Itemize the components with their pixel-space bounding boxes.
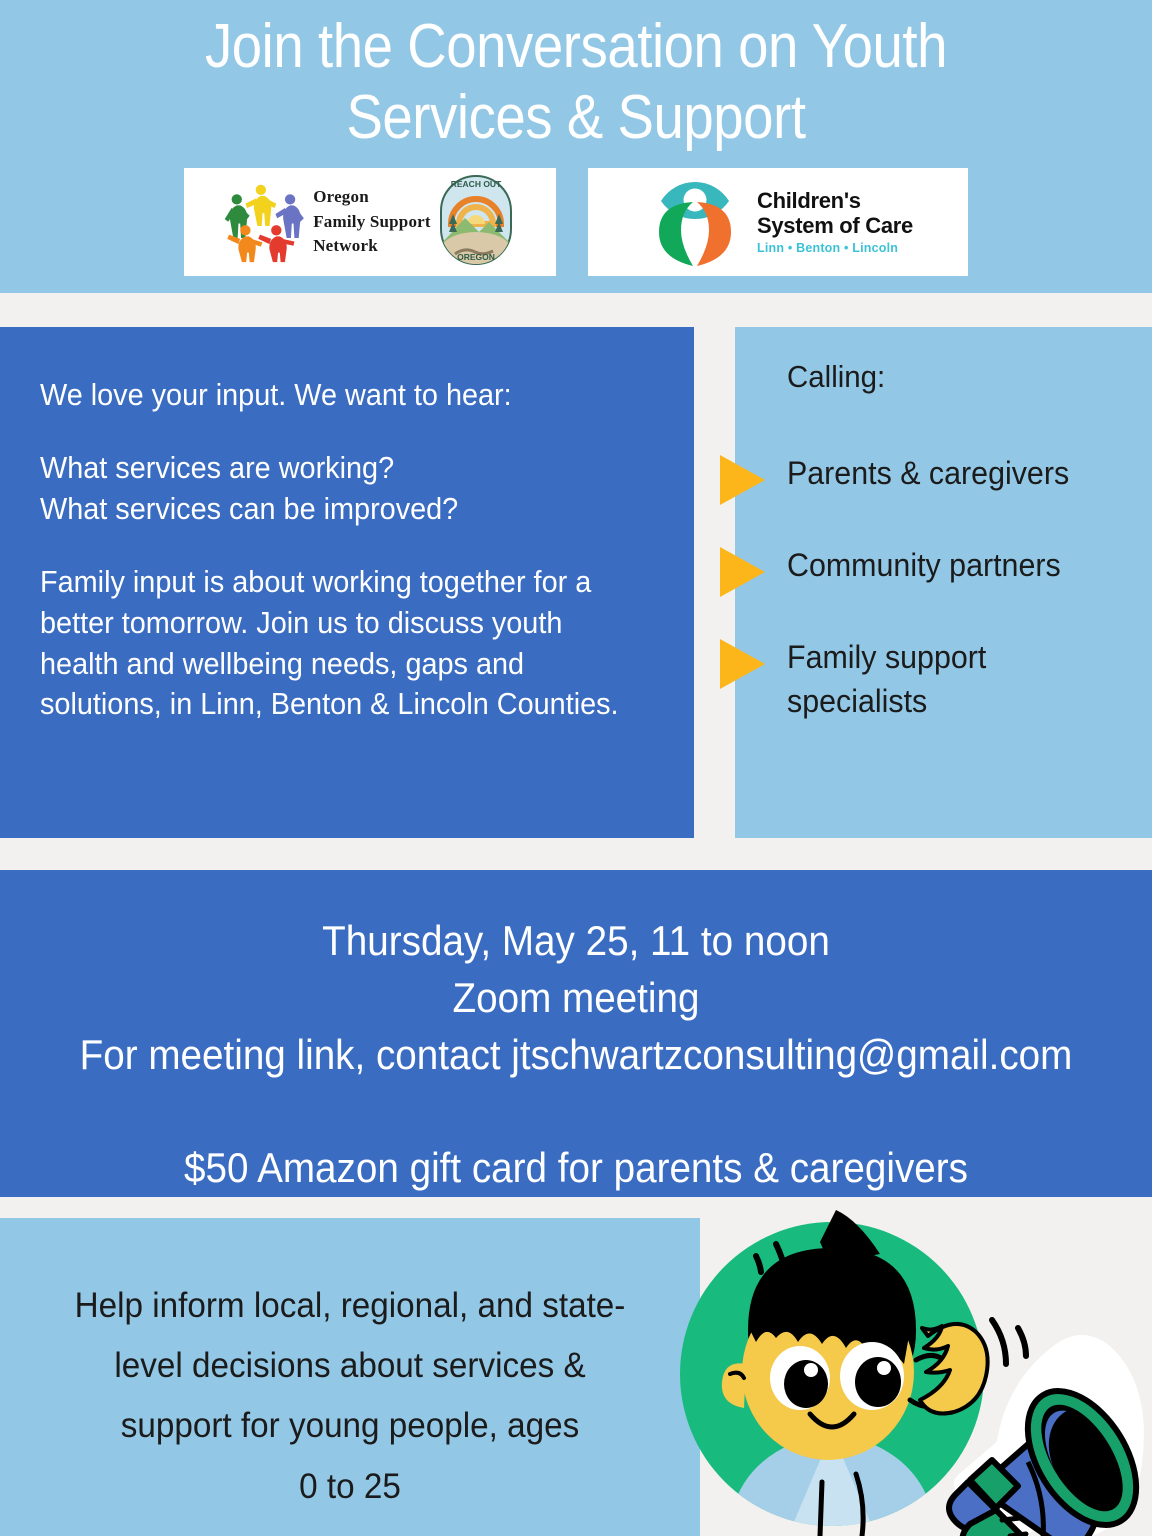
bottom-line-2: level decisions about services & — [52, 1336, 649, 1396]
title-line-2: Services & Support — [104, 83, 1047, 154]
incentive-text: $50 Amazon gift card for parents & careg… — [46, 1139, 1106, 1196]
event-datetime: Thursday, May 25, 11 to noon — [46, 912, 1106, 969]
csoc-wordmark: Children's System of Care Linn • Benton … — [757, 189, 913, 254]
bottom-line-1: Help inform local, regional, and state- — [52, 1276, 649, 1336]
arrow-right-icon — [720, 455, 765, 505]
list-item: Parents & caregivers — [787, 452, 1147, 506]
bottom-line-3: support for young people, ages — [52, 1396, 649, 1456]
ofsn-line-3: Network — [313, 234, 431, 259]
bottom-line-4: 0 to 25 — [52, 1457, 649, 1517]
input-para-1: We love your input. We want to hear: — [40, 375, 628, 416]
calling-heading: Calling: — [787, 359, 1117, 395]
calling-item-label: Family support specialists — [787, 636, 1129, 723]
flyer-poster: Join the Conversation on Youth Services … — [0, 0, 1152, 1536]
input-message-panel: We love your input. We want to hear: Wha… — [0, 327, 694, 838]
calling-item-label: Community partners — [787, 544, 1129, 588]
list-item: Community partners — [787, 544, 1147, 598]
csoc-line-1: Children's — [757, 189, 913, 214]
calling-panel: Calling: Parents & caregivers Community … — [735, 327, 1152, 838]
csoc-figure-icon — [643, 172, 747, 273]
csoc-line-2: System of Care — [757, 214, 913, 239]
arrow-right-icon — [720, 547, 765, 597]
ofsn-line-1: Oregon — [313, 185, 431, 210]
page-title: Join the Conversation on Youth Services … — [104, 12, 1047, 153]
reach-out-oregon-badge-icon: REACH OUT OREGON — [435, 172, 517, 273]
logo-ofsn-wordmark: Oregon Family Support Network — [313, 185, 431, 259]
calling-audience-list: Parents & caregivers Community partners … — [787, 452, 1147, 761]
bottom-info-panel: Help inform local, regional, and state- … — [0, 1218, 700, 1536]
event-details-band: Thursday, May 25, 11 to noon Zoom meetin… — [0, 870, 1152, 1197]
logo-oregon-family-support-network: Oregon Family Support Network — [184, 168, 556, 276]
input-para-2: What services are working? What services… — [40, 448, 628, 530]
arrow-right-icon — [720, 639, 765, 689]
input-question-1: What services are working? — [40, 450, 394, 485]
ofsn-line-2: Family Support — [313, 210, 431, 235]
event-platform: Zoom meeting — [46, 969, 1106, 1026]
list-item: Family support specialists — [787, 636, 1147, 723]
csoc-subtitle: Linn • Benton • Lincoln — [757, 241, 913, 255]
people-circle-icon — [223, 177, 309, 268]
input-question-2: What services can be improved? — [40, 491, 458, 526]
logo-row: Oregon Family Support Network — [0, 168, 1152, 276]
calling-item-label: Parents & caregivers — [787, 452, 1129, 496]
header-banner: Join the Conversation on Youth Services … — [0, 0, 1152, 293]
girl-listening-with-megaphone-illustration — [660, 1196, 1152, 1536]
svg-text:REACH OUT: REACH OUT — [451, 179, 502, 189]
event-contact-email[interactable]: For meeting link, contact jtschwartzcons… — [46, 1026, 1106, 1083]
title-line-1: Join the Conversation on Youth — [104, 12, 1047, 83]
input-para-3: Family input is about working together f… — [40, 562, 628, 726]
svg-text:OREGON: OREGON — [457, 252, 495, 262]
megaphone-icon — [949, 1347, 1152, 1536]
logo-childrens-system-of-care: Children's System of Care Linn • Benton … — [588, 168, 968, 276]
